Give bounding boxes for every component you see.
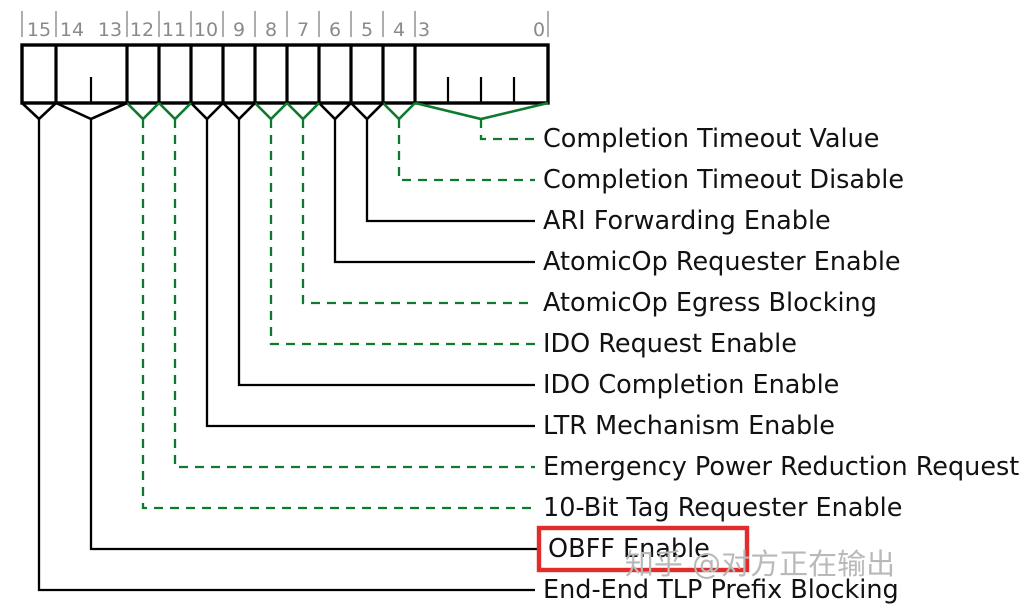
bit-number: 9 <box>233 19 245 41</box>
field-label-ido-completion-enable: IDO Completion Enable <box>543 370 839 400</box>
bit-number: 12 <box>130 19 154 41</box>
field-label-atomicop-egress-blocking: AtomicOp Egress Blocking <box>543 288 877 318</box>
bit-number: 13 <box>98 19 122 41</box>
watermark: 知乎 @对方正在输出 <box>625 547 895 581</box>
vee-connector-atomicop-egress-blocking <box>287 103 319 119</box>
field-label-completion-timeout-disable: Completion Timeout Disable <box>543 165 904 195</box>
field-label-ari-forwarding-enable: ARI Forwarding Enable <box>543 206 831 236</box>
leader-line-ari-forwarding-enable <box>367 119 535 221</box>
field-label-ido-request-enable: IDO Request Enable <box>543 329 797 359</box>
register-outline <box>22 45 548 103</box>
watermark-text: 知乎 @对方正在输出 <box>625 547 895 581</box>
field-leader-lines <box>39 119 540 590</box>
vee-connector-completion-timeout-value <box>415 103 548 119</box>
bit-number: 5 <box>361 19 373 41</box>
bit-number: 7 <box>297 19 309 41</box>
bit-number: 10 <box>194 19 218 41</box>
field-label-10-bit-tag-requester-enable: 10-Bit Tag Requester Enable <box>543 493 902 523</box>
field-label-texts: Completion Timeout ValueCompletion Timeo… <box>543 124 1019 605</box>
bit-number: 4 <box>393 19 405 41</box>
leader-line-10-bit-tag-requester-enable <box>143 119 535 508</box>
vee-connector-emergency-power-reduction-request <box>159 103 191 119</box>
bit-number: 3 <box>418 19 430 41</box>
bit-number-labels: 15141312111098765430 <box>27 19 545 41</box>
bit-number: 15 <box>27 19 51 41</box>
leader-line-completion-timeout-disable <box>399 119 535 180</box>
leader-line-emergency-power-reduction-request <box>175 119 535 467</box>
register-cell-dividers <box>56 45 415 103</box>
register-subbit-ticks <box>91 77 514 103</box>
field-vee-connectors <box>22 103 548 119</box>
vee-connector-obff-enable <box>56 103 127 119</box>
field-label-ltr-mechanism-enable: LTR Mechanism Enable <box>543 411 835 441</box>
vee-connector-atomicop-requester-enable <box>319 103 351 119</box>
register-bitfield-diagram: 15141312111098765430 Completion Timeout … <box>0 0 1026 614</box>
vee-connector-ari-forwarding-enable <box>351 103 383 119</box>
field-label-atomicop-requester-enable: AtomicOp Requester Enable <box>543 247 901 277</box>
diagram-canvas: 15141312111098765430 Completion Timeout … <box>0 0 1026 614</box>
leader-line-atomicop-egress-blocking <box>303 119 535 303</box>
vee-connector-10-bit-tag-requester-enable <box>127 103 159 119</box>
vee-connector-end-end-tlp-prefix-blocking <box>22 103 56 119</box>
leader-line-obff-enable <box>91 119 540 549</box>
leader-line-completion-timeout-value <box>481 119 535 139</box>
leader-line-end-end-tlp-prefix-blocking <box>39 119 535 590</box>
vee-connector-ido-completion-enable <box>223 103 255 119</box>
vee-connector-ltr-mechanism-enable <box>191 103 223 119</box>
register-box <box>22 45 548 103</box>
field-label-emergency-power-reduction-request: Emergency Power Reduction Request <box>543 452 1019 482</box>
bit-number: 0 <box>533 19 545 41</box>
bit-number: 14 <box>60 19 84 41</box>
leader-line-ido-request-enable <box>271 119 535 344</box>
vee-connector-ido-request-enable <box>255 103 287 119</box>
field-label-completion-timeout-value: Completion Timeout Value <box>543 124 879 154</box>
leader-line-atomicop-requester-enable <box>335 119 535 262</box>
bit-number: 11 <box>162 19 186 41</box>
bit-number: 6 <box>329 19 341 41</box>
leader-line-ltr-mechanism-enable <box>207 119 535 426</box>
vee-connector-completion-timeout-disable <box>383 103 415 119</box>
bit-number: 8 <box>265 19 277 41</box>
